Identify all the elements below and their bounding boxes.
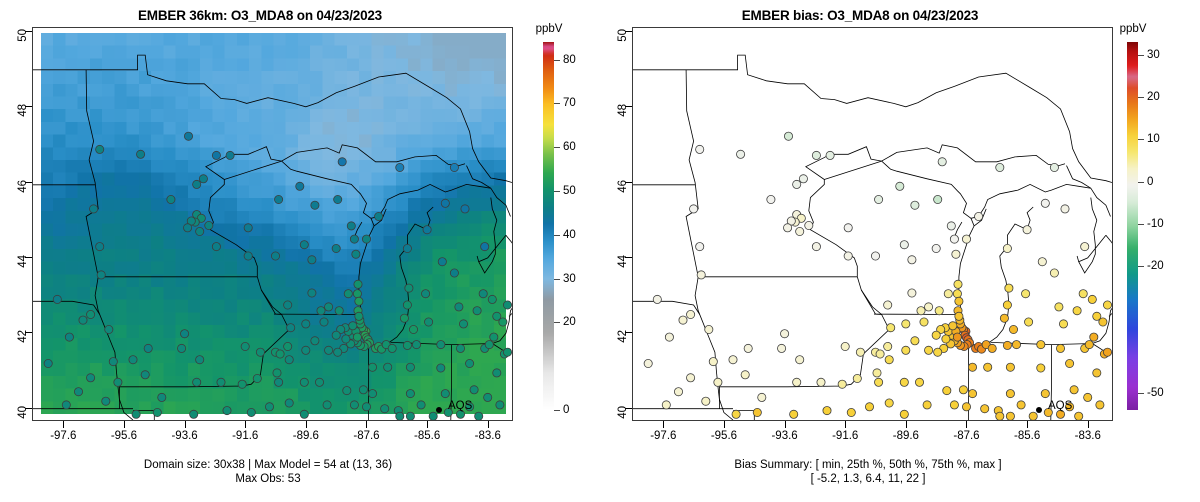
x-tick-label: -83.6 (475, 430, 501, 442)
x-tick-label: -89.6 (293, 430, 319, 442)
x-tick (245, 421, 246, 428)
x-tick-label: -85.6 (414, 430, 440, 442)
x-tick-label: -97.6 (650, 430, 676, 442)
colorbar-tick-label: 30 (1147, 49, 1160, 61)
bias-colorbar-title: ppbV (1120, 23, 1147, 35)
model-caption-line2: Max Obs: 53 (8, 472, 528, 486)
colorbar-tick (554, 103, 560, 104)
x-tick (366, 421, 367, 428)
model-caption-line1: Domain size: 30x38 | Max Model = 54 at (… (8, 458, 528, 472)
y-tick-label: 40 (17, 406, 29, 419)
model-colorbar (543, 42, 554, 410)
x-tick (427, 421, 428, 428)
bias-x-axis: -97.6-95.6-93.6-91.6-89.6-87.6-85.6-83.6 (632, 421, 1113, 451)
figure-canvas: EMBER 36km: O3_MDA8 on 04/23/2023 404244… (0, 0, 1200, 502)
x-tick-label: -87.6 (953, 430, 979, 442)
aqs-legend-label: AQS (448, 400, 472, 412)
y-tick-label: 42 (17, 330, 29, 343)
colorbar-tick-label: 20 (1147, 91, 1160, 103)
colorbar-tick (1138, 182, 1144, 183)
model-map-outlines (33, 28, 512, 420)
colorbar-tick (1138, 97, 1144, 98)
colorbar-tick-label: 0 (563, 404, 569, 416)
colorbar-tick (1138, 393, 1144, 394)
colorbar-tick-label: 50 (563, 185, 576, 197)
y-tick-label: 50 (617, 29, 629, 42)
aqs-legend-label: AQS (1048, 400, 1072, 412)
colorbar-tick-label: 0 (1147, 176, 1153, 188)
colorbar-tick (554, 191, 560, 192)
x-tick-label: -95.6 (111, 430, 137, 442)
colorbar-tick-label: 10 (1147, 133, 1160, 145)
y-tick-label: 48 (17, 104, 29, 117)
colorbar-tick (554, 147, 560, 148)
x-tick-label: -83.6 (1075, 430, 1101, 442)
x-tick (785, 421, 786, 428)
colorbar-tick-label: 80 (563, 54, 576, 66)
y-tick-label: 50 (17, 29, 29, 42)
colorbar-tick (1138, 224, 1144, 225)
colorbar-tick-label: 40 (563, 229, 576, 241)
colorbar-tick-label: 20 (563, 316, 576, 328)
bias-y-axis: 404244464850 (600, 27, 632, 421)
x-tick (488, 421, 489, 428)
bias-caption-line1: Bias Summary: [ min, 25th %, 50th %, 75t… (608, 458, 1128, 472)
x-tick-label: -97.6 (50, 430, 76, 442)
colorbar-tick (1138, 55, 1144, 56)
model-plot-area: AQS (32, 27, 513, 421)
panel-bias: EMBER bias: O3_MDA8 on 04/23/2023 404244… (600, 0, 1200, 502)
panel-bias-title: EMBER bias: O3_MDA8 on 04/23/2023 (600, 8, 1120, 23)
x-tick (306, 421, 307, 428)
y-tick-label: 40 (617, 406, 629, 419)
x-tick (845, 421, 846, 428)
colorbar-tick (554, 410, 560, 411)
x-tick (63, 421, 64, 428)
colorbar-tick-label: 60 (563, 141, 576, 153)
x-tick-label: -91.6 (832, 430, 858, 442)
x-tick (966, 421, 967, 428)
colorbar-tick-label: -20 (1147, 260, 1164, 272)
x-tick-label: -87.6 (353, 430, 379, 442)
x-tick-label: -85.6 (1014, 430, 1040, 442)
y-tick-label: 44 (617, 255, 629, 268)
colorbar-tick (554, 60, 560, 61)
panel-model-title: EMBER 36km: O3_MDA8 on 04/23/2023 (0, 8, 520, 23)
aqs-legend-marker (1036, 407, 1042, 413)
colorbar-tick-label: -10 (1147, 218, 1164, 230)
y-tick-label: 48 (617, 104, 629, 117)
x-tick-label: -91.6 (232, 430, 258, 442)
x-tick (663, 421, 664, 428)
colorbar-tick (554, 279, 560, 280)
bias-colorbar (1127, 42, 1138, 410)
colorbar-tick-label: 70 (563, 97, 576, 109)
x-tick (724, 421, 725, 428)
x-tick-label: -93.6 (171, 430, 197, 442)
x-tick (1027, 421, 1028, 428)
bias-map-outlines (633, 28, 1112, 420)
panel-model: EMBER 36km: O3_MDA8 on 04/23/2023 404244… (0, 0, 600, 502)
x-tick-label: -93.6 (771, 430, 797, 442)
x-tick-label: -95.6 (711, 430, 737, 442)
colorbar-tick (1138, 139, 1144, 140)
aqs-legend-marker (436, 407, 442, 413)
colorbar-tick-label: -50 (1147, 387, 1164, 399)
bias-plot-area: AQS (632, 27, 1113, 421)
x-tick (1088, 421, 1089, 428)
colorbar-tick (1138, 266, 1144, 267)
model-colorbar-title: ppbV (536, 23, 563, 35)
model-x-axis: -97.6-95.6-93.6-91.6-89.6-87.6-85.6-83.6 (32, 421, 513, 451)
bias-caption-line2: [ -5.2, 1.3, 6.4, 11, 22 ] (608, 472, 1128, 486)
x-tick-label: -89.6 (893, 430, 919, 442)
x-tick (906, 421, 907, 428)
colorbar-tick (554, 235, 560, 236)
x-tick (185, 421, 186, 428)
y-tick-label: 42 (617, 330, 629, 343)
y-tick-label: 46 (617, 180, 629, 193)
x-tick (124, 421, 125, 428)
y-tick-label: 44 (17, 255, 29, 268)
colorbar-tick (554, 322, 560, 323)
model-y-axis: 404244464850 (0, 27, 32, 421)
colorbar-tick-label: 30 (563, 273, 576, 285)
y-tick-label: 46 (17, 180, 29, 193)
